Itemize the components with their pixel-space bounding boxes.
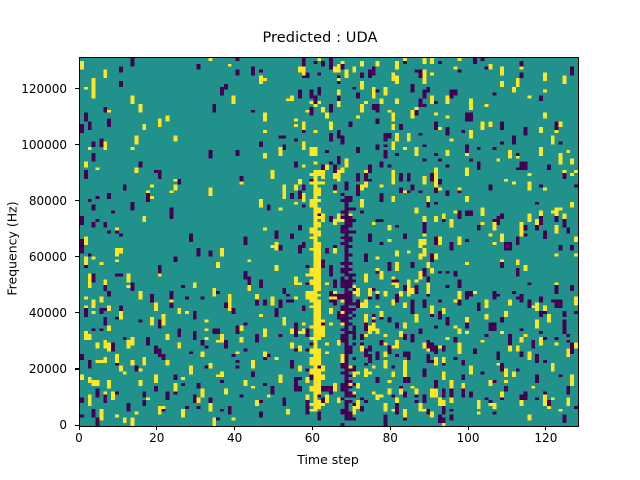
x-tick-mark xyxy=(312,426,313,430)
x-tick-mark xyxy=(545,426,546,430)
y-tick-label: 80000 xyxy=(29,194,67,208)
y-tick-label: 40000 xyxy=(29,306,67,320)
y-tick-mark xyxy=(75,88,79,89)
y-tick-mark xyxy=(75,368,79,369)
x-tick-mark xyxy=(79,426,80,430)
y-tick-mark xyxy=(75,425,79,426)
y-tick-label: 120000 xyxy=(21,82,67,96)
x-tick-label: 120 xyxy=(534,431,557,445)
x-axis-label: Time step xyxy=(79,452,577,467)
x-tick-label: 100 xyxy=(457,431,480,445)
heatmap-plot-area xyxy=(79,57,579,427)
x-tick-label: 40 xyxy=(227,431,242,445)
x-tick-mark xyxy=(234,426,235,430)
y-tick-label: 20000 xyxy=(29,362,67,376)
x-tick-label: 0 xyxy=(75,431,83,445)
y-tick-label: 60000 xyxy=(29,250,67,264)
x-tick-label: 60 xyxy=(305,431,320,445)
x-tick-label: 80 xyxy=(383,431,398,445)
y-tick-mark xyxy=(75,312,79,313)
x-tick-label: 20 xyxy=(149,431,164,445)
y-tick-mark xyxy=(75,256,79,257)
y-tick-mark xyxy=(75,144,79,145)
heatmap-canvas xyxy=(80,58,578,426)
x-tick-mark xyxy=(468,426,469,430)
y-axis-label: Frequency (Hz) xyxy=(5,149,20,349)
x-tick-mark xyxy=(156,426,157,430)
x-tick-mark xyxy=(390,426,391,430)
y-tick-label: 0 xyxy=(59,418,67,432)
y-tick-mark xyxy=(75,200,79,201)
y-tick-label: 100000 xyxy=(21,138,67,152)
chart-title: Predicted : UDA xyxy=(0,30,640,46)
matplotlib-figure: Predicted : UDA 020406080100120 02000040… xyxy=(0,0,640,480)
